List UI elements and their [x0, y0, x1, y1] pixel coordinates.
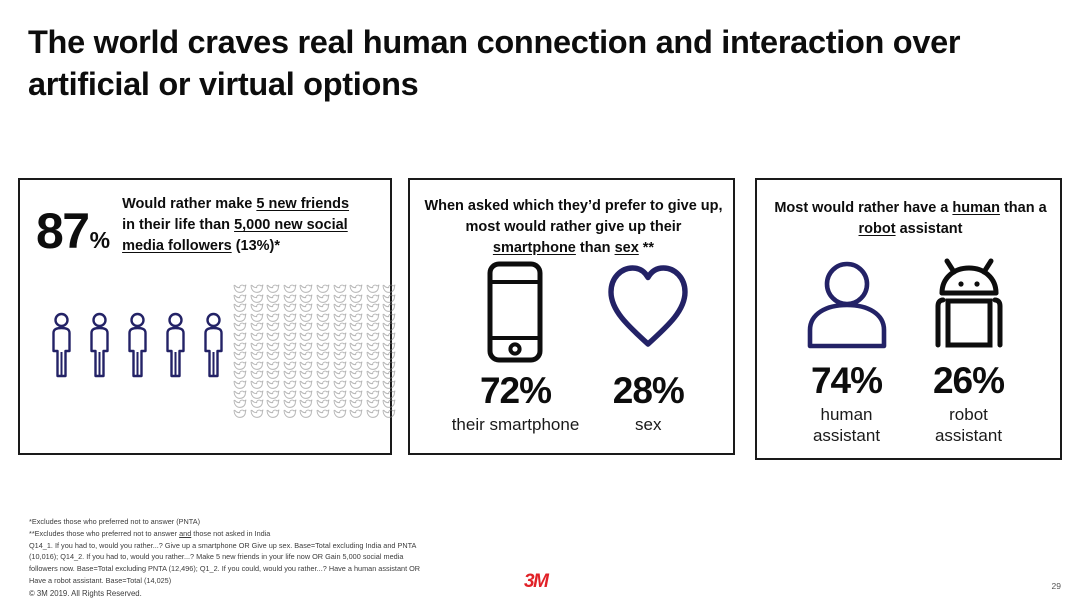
social-bird-icon [366, 351, 383, 361]
person-avatar-icon [804, 256, 890, 352]
social-bird-icon [333, 380, 350, 390]
social-bird-icon [316, 351, 333, 361]
social-bird-icon [349, 332, 366, 342]
social-bird-icon [283, 409, 300, 419]
social-bird-icon [382, 370, 399, 380]
person-standing-icon [124, 312, 151, 384]
social-bird-icon [233, 332, 250, 342]
social-bird-icon [333, 322, 350, 332]
social-bird-icon [283, 322, 300, 332]
social-bird-icon [283, 390, 300, 400]
social-bird-icon [233, 294, 250, 304]
social-bird-icon [233, 361, 250, 371]
social-bird-icon [250, 409, 267, 419]
panel-3-headline: Most would rather have a human than a ro… [771, 198, 1050, 240]
social-bird-icon [316, 361, 333, 371]
social-bird-icon [283, 380, 300, 390]
social-bird-icon [366, 380, 383, 390]
social-bird-icon [283, 313, 300, 323]
social-bird-icon [349, 284, 366, 294]
social-bird-icon [250, 303, 267, 313]
social-bird-icon [283, 294, 300, 304]
social-bird-icon [250, 361, 267, 371]
social-bird-icon [382, 342, 399, 352]
social-bird-icon [316, 294, 333, 304]
footnote-line-2-post: those not asked in India [191, 529, 270, 538]
person-standing-icon [86, 312, 113, 384]
panel-1-top-row: 87% Would rather make 5 new friends in t… [20, 194, 390, 257]
social-bird-icon [316, 284, 333, 294]
social-bird-icon [283, 303, 300, 313]
brand-logo-3m: 3M [524, 572, 547, 591]
social-bird-icon [349, 322, 366, 332]
social-bird-icon [366, 313, 383, 323]
page-number: 29 [1052, 581, 1061, 591]
social-bird-icon [299, 342, 316, 352]
social-bird-icon [250, 332, 267, 342]
social-bird-icon [283, 342, 300, 352]
stat-human-label-line2: assistant [813, 426, 880, 445]
social-bird-icon [266, 351, 283, 361]
social-bird-icon [266, 399, 283, 409]
stat-robot-label-line2: assistant [935, 426, 1002, 445]
footnote-line-6: Have a robot assistant. Base=Total (14,0… [29, 575, 499, 587]
social-bird-icon [233, 322, 250, 332]
social-bird-icon [233, 409, 250, 419]
social-bird-icon [283, 399, 300, 409]
social-bird-icon [366, 409, 383, 419]
social-bird-icon [299, 361, 316, 371]
page-title: The world craves real human connection a… [28, 22, 1058, 105]
social-bird-icon [366, 390, 383, 400]
social-bird-icon [366, 370, 383, 380]
footnote-line-1: *Excludes those who preferred not to ans… [29, 516, 499, 528]
social-bird-icon [382, 284, 399, 294]
stat-human-assistant: 74% humanassistant [804, 256, 890, 446]
footnote-line-2-pre: **Excludes those who preferred not to an… [29, 529, 179, 538]
social-bird-icon [382, 409, 399, 419]
social-bird-icon [250, 322, 267, 332]
social-bird-icon [283, 370, 300, 380]
social-bird-icon [382, 303, 399, 313]
stat-smartphone-label: their smartphone [452, 415, 580, 436]
social-bird-icon [333, 361, 350, 371]
social-bird-icon [316, 370, 333, 380]
social-bird-icon [233, 390, 250, 400]
social-bird-icon [382, 361, 399, 371]
person-standing-icon [48, 312, 75, 384]
panel-smartphone-vs-sex: When asked which they’d prefer to give u… [408, 178, 735, 455]
footnote-line-2: **Excludes those who preferred not to an… [29, 528, 499, 540]
social-bird-icon [316, 303, 333, 313]
social-bird-icon [266, 294, 283, 304]
social-bird-icon [266, 313, 283, 323]
social-bird-icon [299, 351, 316, 361]
social-bird-icon [366, 294, 383, 304]
social-bird-grid [233, 284, 399, 418]
social-bird-icon [366, 399, 383, 409]
social-bird-icon [349, 361, 366, 371]
social-bird-icon [349, 370, 366, 380]
social-bird-icon [382, 332, 399, 342]
social-bird-icon [250, 399, 267, 409]
social-bird-icon [382, 380, 399, 390]
social-bird-icon [333, 303, 350, 313]
social-bird-icon [316, 342, 333, 352]
stat-human-label-line1: human [821, 405, 873, 424]
stat-robot-label-line1: robot [949, 405, 988, 424]
social-bird-icon [233, 370, 250, 380]
panel-2-headline: When asked which they’d prefer to give u… [424, 196, 723, 259]
social-bird-icon [266, 370, 283, 380]
social-bird-icon [299, 303, 316, 313]
social-bird-icon [349, 342, 366, 352]
panel-human-vs-robot: Most would rather have a human than a ro… [755, 178, 1062, 460]
social-bird-icon [349, 399, 366, 409]
social-bird-icon [366, 361, 383, 371]
footnote-line-4: (10,016); Q14_2. If you had to, would yo… [29, 551, 499, 563]
footnotes: *Excludes those who preferred not to ans… [29, 516, 499, 587]
social-bird-icon [333, 399, 350, 409]
social-bird-icon [349, 390, 366, 400]
stat-robot-assistant: 26% robotassistant [924, 256, 1014, 446]
social-bird-icon [250, 390, 267, 400]
social-bird-icon [382, 294, 399, 304]
social-bird-icon [382, 399, 399, 409]
panel-1-headline: Would rather make 5 new friends in their… [122, 194, 350, 257]
social-bird-icon [316, 322, 333, 332]
footnote-line-3: Q14_1. If you had to, would you rather..… [29, 540, 499, 552]
social-bird-icon [250, 342, 267, 352]
social-bird-icon [250, 284, 267, 294]
social-bird-icon [233, 303, 250, 313]
social-bird-icon [333, 342, 350, 352]
panel-2-stats: 72% their smartphone 28% sex [410, 258, 733, 436]
social-bird-icon [299, 332, 316, 342]
social-bird-icon [283, 284, 300, 294]
social-bird-icon [266, 361, 283, 371]
social-bird-icon [366, 303, 383, 313]
social-bird-icon [333, 294, 350, 304]
social-bird-icon [299, 322, 316, 332]
social-bird-icon [316, 313, 333, 323]
social-bird-icon [250, 313, 267, 323]
social-bird-icon [266, 380, 283, 390]
social-bird-icon [299, 399, 316, 409]
social-bird-icon [349, 380, 366, 390]
stat-robot-label: robotassistant [935, 405, 1002, 446]
footnote-line-2-emphasis: and [179, 529, 191, 538]
social-bird-icon [299, 370, 316, 380]
copyright-notice: © 3M 2019. All Rights Reserved. [29, 589, 142, 598]
stat-87-unit: % [90, 227, 110, 253]
social-bird-icon [283, 351, 300, 361]
social-bird-icon [382, 313, 399, 323]
social-bird-icon [349, 294, 366, 304]
stat-human-label: humanassistant [813, 405, 880, 446]
social-bird-icon [250, 294, 267, 304]
social-bird-icon [316, 380, 333, 390]
social-bird-icon [299, 284, 316, 294]
social-bird-icon [250, 380, 267, 390]
social-bird-icon [333, 332, 350, 342]
social-bird-icon [349, 409, 366, 419]
social-bird-icon [349, 313, 366, 323]
stat-robot-value: 26% [933, 362, 1004, 401]
social-bird-icon [382, 390, 399, 400]
social-bird-icon [333, 409, 350, 419]
social-bird-icon [266, 342, 283, 352]
social-bird-icon [233, 380, 250, 390]
social-bird-icon [266, 303, 283, 313]
people-pictogram-group [48, 312, 227, 384]
social-bird-icon [283, 332, 300, 342]
social-bird-icon [366, 342, 383, 352]
social-bird-icon [366, 284, 383, 294]
social-bird-icon [316, 409, 333, 419]
social-bird-icon [283, 361, 300, 371]
social-bird-icon [366, 332, 383, 342]
social-bird-icon [299, 294, 316, 304]
social-bird-icon [266, 332, 283, 342]
stat-sex-value: 28% [613, 372, 684, 411]
social-bird-icon [233, 342, 250, 352]
social-bird-icon [316, 390, 333, 400]
social-bird-icon [233, 351, 250, 361]
stat-human-value: 74% [811, 362, 882, 401]
social-bird-icon [349, 303, 366, 313]
social-bird-icon [299, 390, 316, 400]
social-bird-icon [333, 313, 350, 323]
social-bird-icon [266, 390, 283, 400]
social-bird-icon [233, 284, 250, 294]
social-bird-icon [250, 370, 267, 380]
stat-sex: 28% sex [605, 258, 691, 436]
social-bird-icon [299, 313, 316, 323]
social-bird-icon [316, 332, 333, 342]
stat-87-value: 87 [36, 203, 89, 259]
social-bird-icon [316, 399, 333, 409]
social-bird-icon [333, 351, 350, 361]
footnote-line-5: followers now. Base=Total excluding PNTA… [29, 563, 499, 575]
social-bird-icon [382, 351, 399, 361]
smartphone-icon [483, 258, 547, 364]
person-standing-icon [162, 312, 189, 384]
social-bird-icon [233, 313, 250, 323]
social-bird-icon [266, 322, 283, 332]
heart-icon [605, 258, 691, 364]
social-bird-icon [333, 390, 350, 400]
social-bird-icon [333, 284, 350, 294]
robot-icon [924, 256, 1014, 352]
social-bird-icon [266, 409, 283, 419]
social-bird-icon [233, 399, 250, 409]
person-standing-icon [200, 312, 227, 384]
social-bird-icon [333, 370, 350, 380]
social-bird-icon [299, 409, 316, 419]
stat-smartphone: 72% their smartphone [452, 258, 580, 436]
stat-smartphone-value: 72% [480, 372, 551, 411]
social-bird-icon [382, 322, 399, 332]
stat-sex-label: sex [635, 415, 661, 436]
stat-87-percent: 87% [36, 206, 110, 256]
social-bird-icon [299, 380, 316, 390]
social-bird-icon [250, 351, 267, 361]
social-bird-icon [349, 351, 366, 361]
social-bird-icon [266, 284, 283, 294]
social-bird-icon [366, 322, 383, 332]
panel-friends-vs-followers: 87% Would rather make 5 new friends in t… [18, 178, 392, 455]
panel-3-stats: 74% humanassistant 26% robotassistant [757, 256, 1060, 446]
